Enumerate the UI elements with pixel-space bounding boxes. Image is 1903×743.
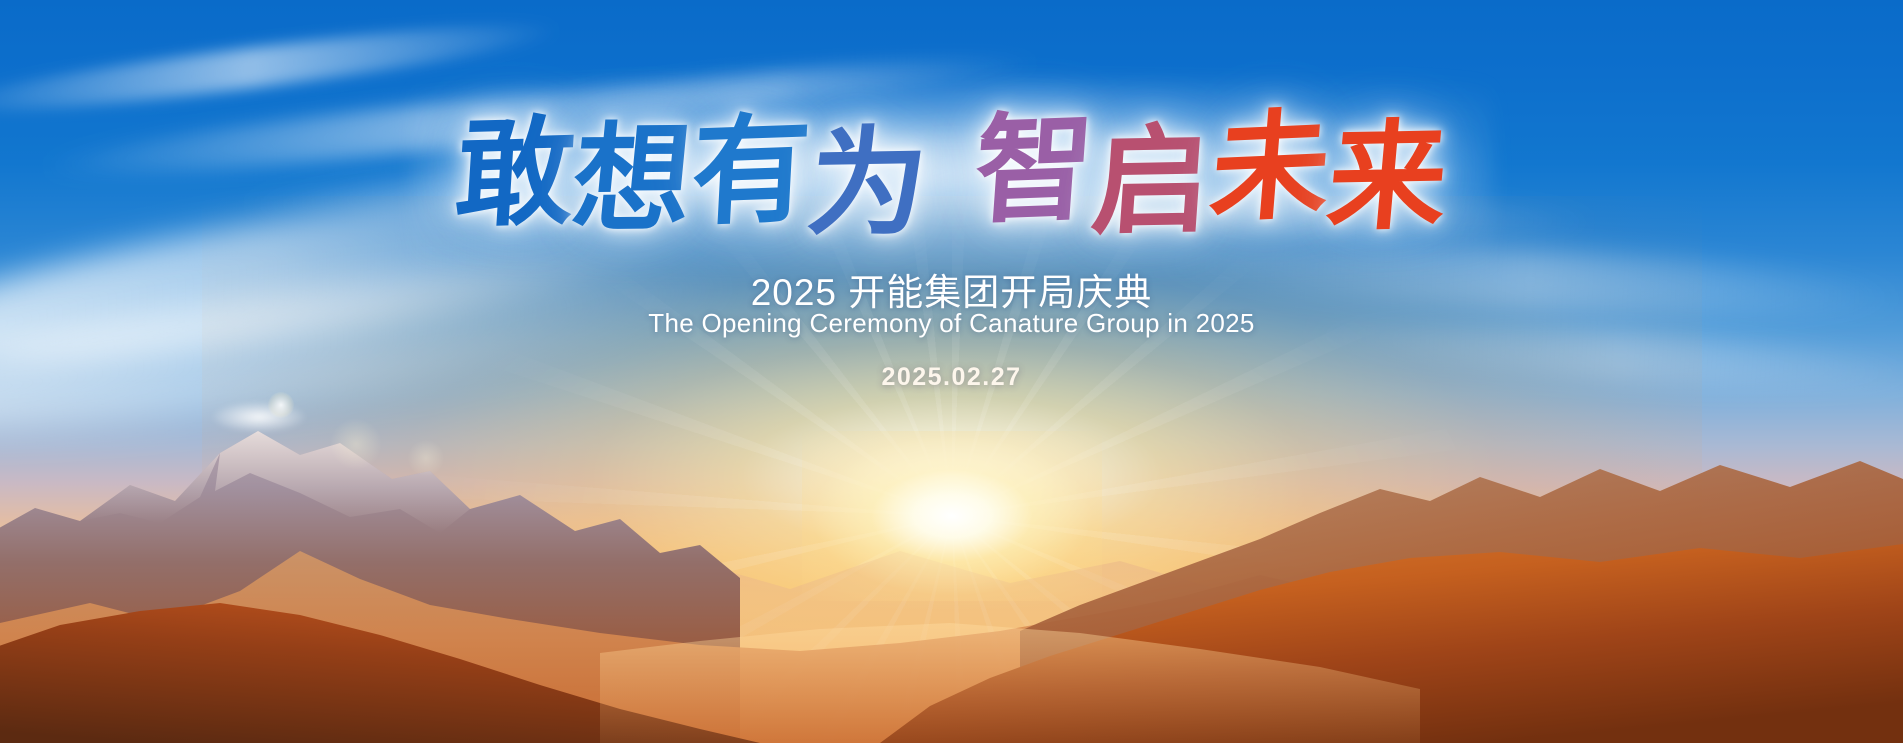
event-banner: 敢 想 有 为 智 启 未 来 2025 开能集团开局庆典 The Openin… (0, 0, 1903, 743)
sky-background (0, 0, 1903, 743)
